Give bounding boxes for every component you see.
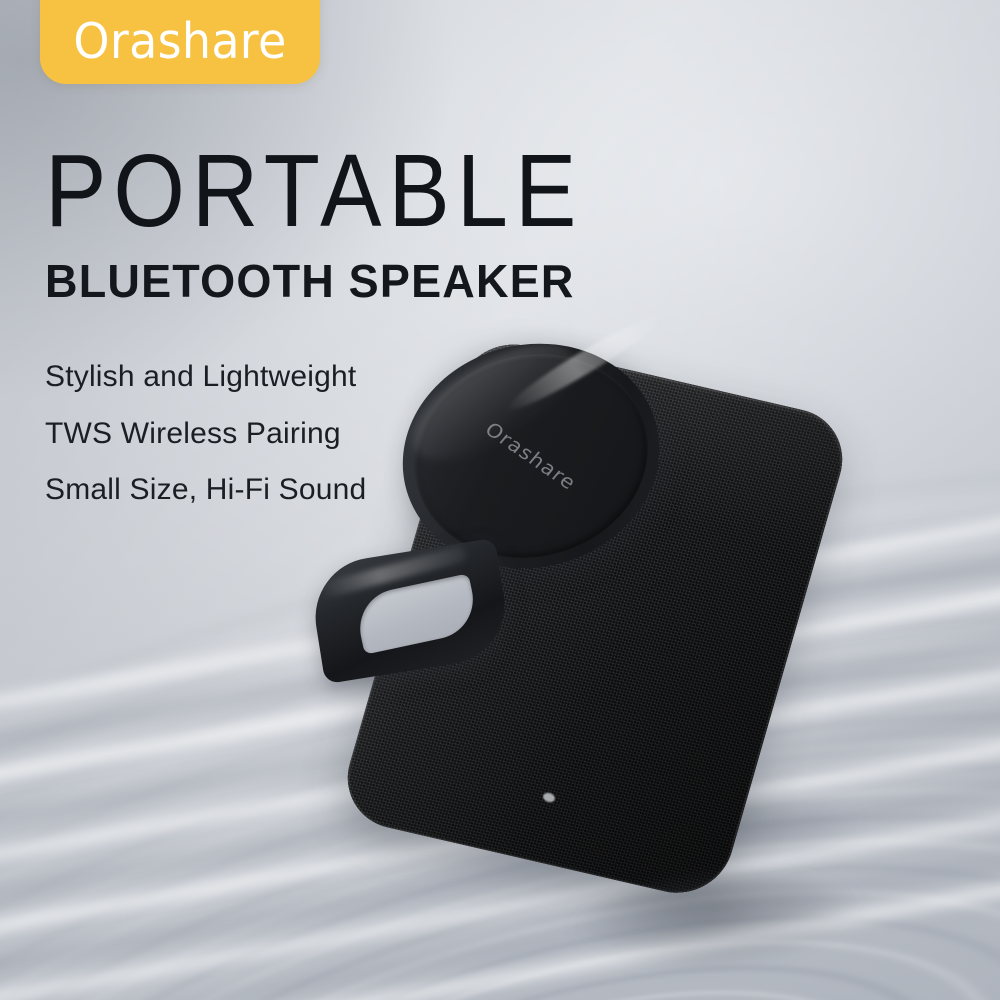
brand-logo-badge: Orashare <box>40 0 320 84</box>
feature-line: Stylish and Lightweight <box>45 361 583 393</box>
page-subtitle: BLUETOOTH SPEAKER <box>45 258 583 304</box>
feature-line: Small Size, Hi-Fi Sound <box>45 474 583 506</box>
brand-logo-text: Orashare <box>73 17 286 66</box>
product-banner: Orashare PORTABLE BLUETOOTH SPEAKER Styl… <box>0 0 1000 1000</box>
feature-line: TWS Wireless Pairing <box>45 418 583 450</box>
marketing-copy: PORTABLE BLUETOOTH SPEAKER Stylish and L… <box>45 140 583 506</box>
feature-list: Stylish and LightweightTWS Wireless Pair… <box>45 361 583 506</box>
page-title: PORTABLE <box>45 140 583 243</box>
